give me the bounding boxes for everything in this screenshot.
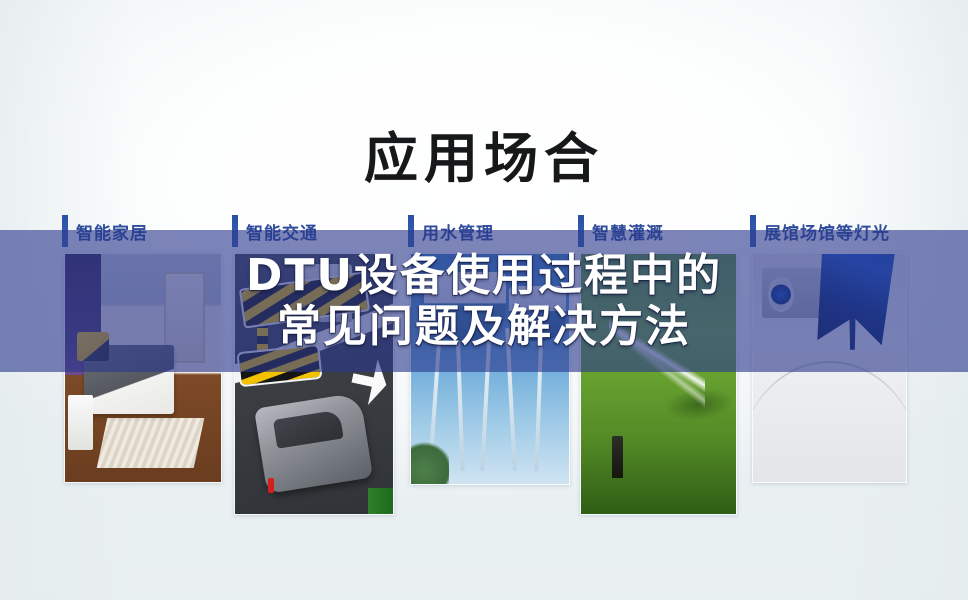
page-title: 应用场合 xyxy=(0,131,968,188)
banner-overlay xyxy=(0,230,968,372)
slide-canvas: 应用场合 智能家居 智能交通 xyxy=(0,0,968,600)
